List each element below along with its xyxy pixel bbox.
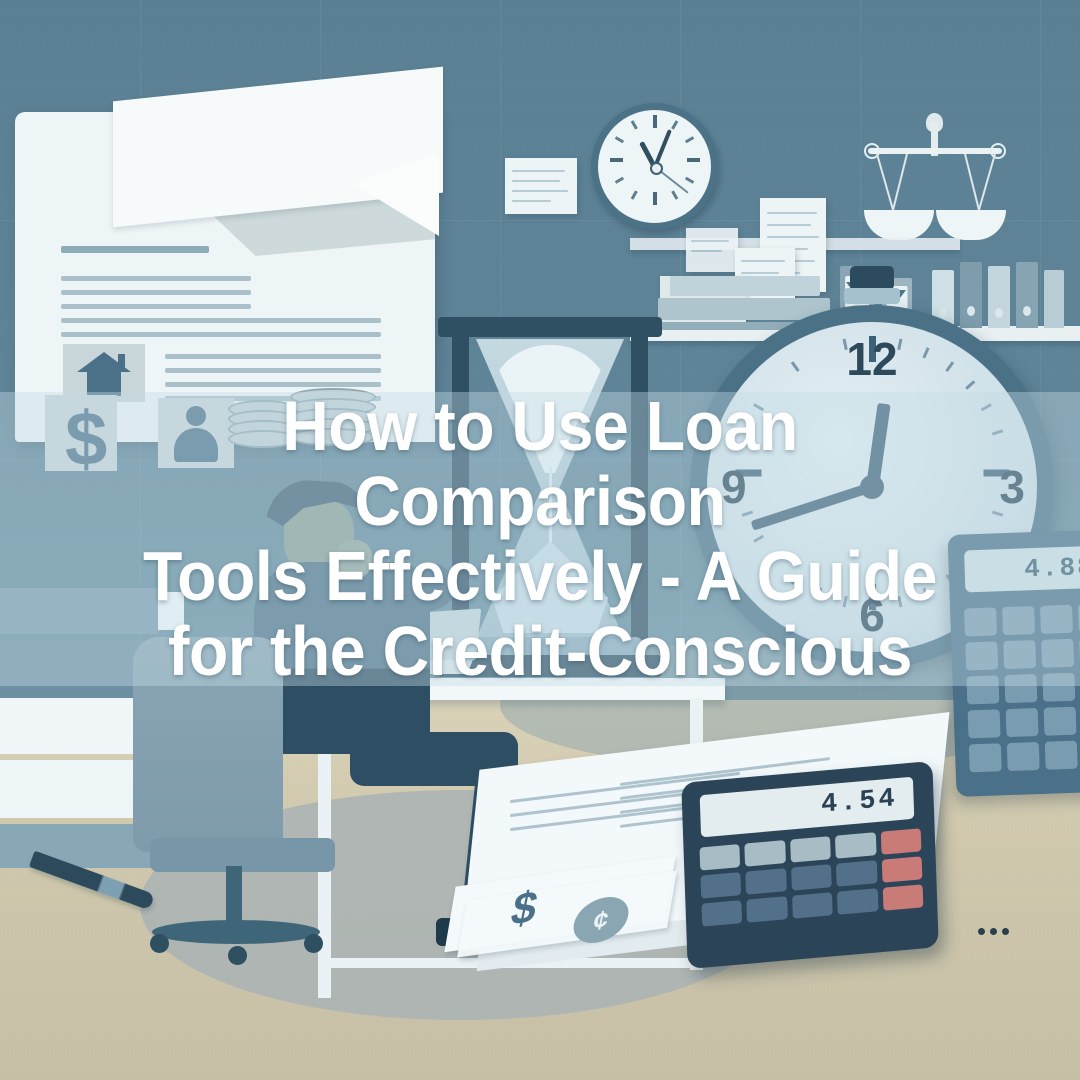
calc-key[interactable] [701, 900, 742, 927]
calc-key[interactable] [835, 832, 876, 859]
scales-beam [868, 148, 1002, 154]
calc-key[interactable] [700, 872, 741, 899]
calc-key[interactable] [1045, 741, 1078, 770]
clock-tick [653, 192, 657, 205]
clock-tick [610, 158, 623, 162]
wall-clock [591, 103, 718, 230]
dot [990, 928, 997, 935]
title-line-3: for the Credit-Conscious [121, 614, 958, 689]
calculator-display: 4.54 [700, 777, 915, 838]
dot [978, 928, 985, 935]
calc-key[interactable] [1006, 708, 1039, 737]
clock-top-knob [844, 266, 900, 306]
calc-key[interactable] [747, 896, 788, 923]
clock-tick [631, 190, 638, 199]
hero-illustration: $ [0, 0, 1080, 1080]
calculator-keys[interactable] [699, 828, 923, 926]
chair-wheel [304, 934, 323, 953]
clock-tick [615, 177, 624, 184]
main-calculator[interactable]: 4.54 [681, 761, 939, 969]
title-overlay-band: How to Use Loan Comparison Tools Effecti… [0, 392, 1080, 686]
binder [1044, 270, 1064, 328]
calc-key-enter[interactable] [882, 884, 923, 911]
clock-tick [687, 158, 700, 162]
title-line-2: Tools Effectively - A Guide [121, 539, 958, 614]
calc-key[interactable] [968, 709, 1001, 738]
calc-key-accent[interactable] [881, 856, 922, 883]
office-chair-stem [226, 866, 242, 928]
calc-key[interactable] [836, 860, 877, 887]
calc-key[interactable] [791, 864, 832, 891]
clock-tick [685, 177, 694, 184]
calc-key[interactable] [1044, 707, 1077, 736]
binder [1016, 262, 1038, 328]
balance-scales-icon [860, 110, 1010, 230]
calc-key[interactable] [790, 836, 831, 863]
calc-key[interactable] [746, 868, 787, 895]
chair-wheel [150, 934, 169, 953]
calc-key[interactable] [699, 844, 740, 871]
hourglass-top-bar [438, 317, 662, 337]
clock-tick [671, 120, 678, 129]
scales-chain [976, 154, 996, 216]
calculator-value: 4.54 [821, 784, 899, 821]
clock-tick [671, 190, 678, 199]
clock-tick [653, 115, 657, 128]
calc-key[interactable] [792, 892, 833, 919]
title-line-1: How to Use Loan Comparison [121, 389, 958, 539]
clock-tick [631, 120, 638, 129]
clock-pivot [650, 162, 663, 175]
binder [960, 262, 982, 328]
wall-paper [505, 158, 577, 214]
calc-key[interactable] [969, 743, 1002, 772]
office-chair-seat [150, 838, 335, 872]
calc-key[interactable] [1007, 742, 1040, 771]
clock-tick [685, 136, 694, 143]
calc-key-clear[interactable] [880, 828, 921, 855]
chair-wheel [228, 946, 247, 965]
scales-chain [891, 154, 908, 217]
clock-tick [615, 136, 624, 143]
binder [988, 266, 1010, 328]
office-chair-base [152, 920, 320, 944]
calc-key[interactable] [745, 840, 786, 867]
clock-numeral-12: 12 [846, 332, 897, 386]
cash-on-floor: $ ¢ [450, 862, 680, 952]
dot [1002, 928, 1009, 935]
ellipsis-dots [978, 928, 1009, 935]
calc-key[interactable] [837, 888, 878, 915]
page-title: How to Use Loan Comparison Tools Effecti… [103, 389, 977, 689]
